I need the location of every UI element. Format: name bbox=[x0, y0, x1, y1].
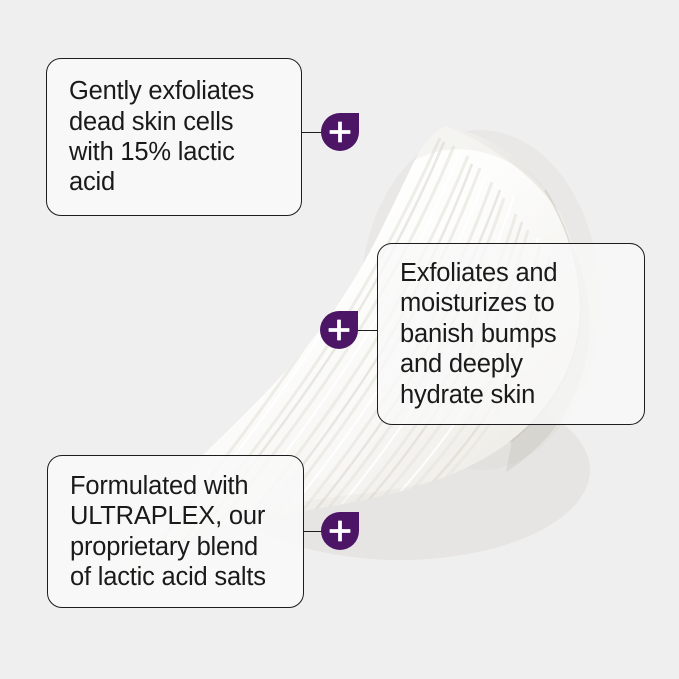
callout-text-3: Formulated with ULTRAPLEX, our proprieta… bbox=[48, 471, 266, 593]
callout-box-3[interactable]: Formulated with ULTRAPLEX, our proprieta… bbox=[47, 455, 304, 608]
callout-text-1: Gently exfoliates dead skin cells with 1… bbox=[47, 76, 254, 198]
callout-box-2[interactable]: Exfoliates and moisturizes to banish bum… bbox=[377, 243, 645, 425]
plus-marker-icon-2[interactable] bbox=[320, 311, 358, 349]
infographic-canvas: Gently exfoliates dead skin cells with 1… bbox=[0, 0, 679, 679]
callout-box-1[interactable]: Gently exfoliates dead skin cells with 1… bbox=[46, 58, 302, 216]
plus-marker-icon-1[interactable] bbox=[321, 113, 359, 151]
plus-marker-icon-3[interactable] bbox=[321, 512, 359, 550]
connector-line-2 bbox=[356, 330, 378, 331]
callout-text-2: Exfoliates and moisturizes to banish bum… bbox=[378, 258, 557, 410]
